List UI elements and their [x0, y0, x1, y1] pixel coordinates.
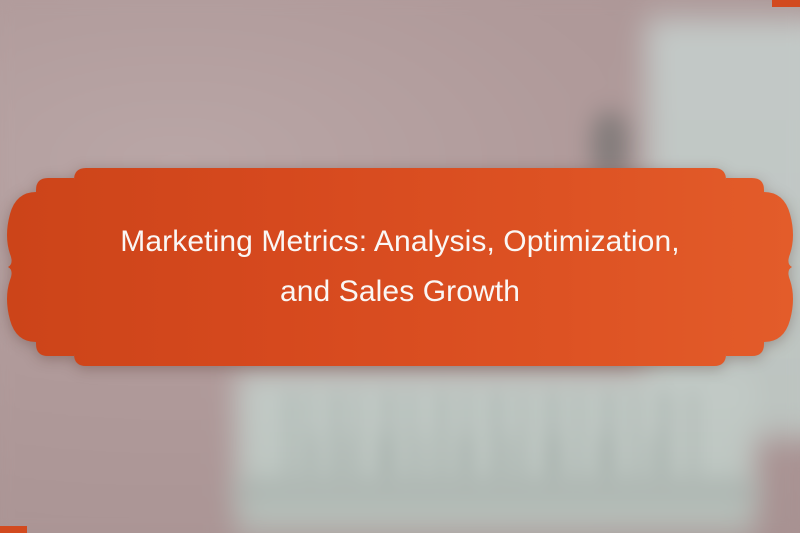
accent-mark-bottom-left: [0, 526, 27, 533]
title-banner: [0, 162, 800, 372]
accent-mark-top-right: [772, 0, 800, 7]
title-slide: Marketing Metrics: Analysis, Optimizatio…: [0, 0, 800, 533]
banner-shape-path: [7, 168, 793, 366]
